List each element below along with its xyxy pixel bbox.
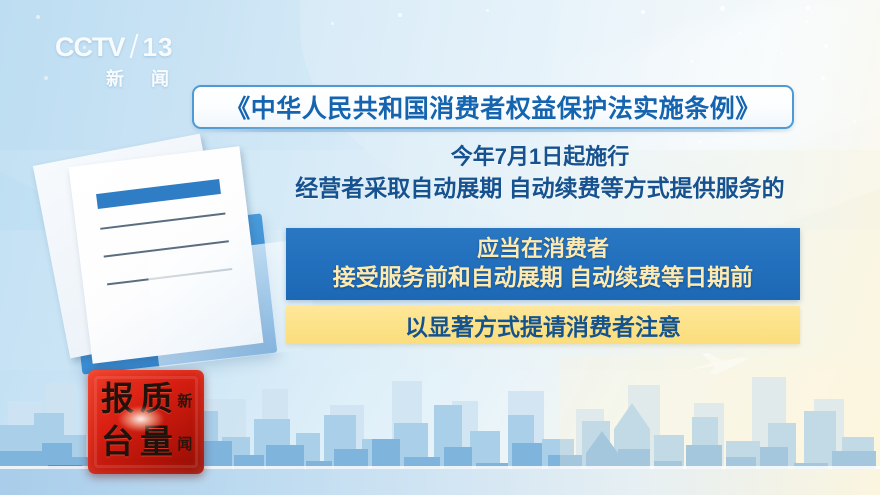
paper-rule-line bbox=[100, 212, 225, 229]
banner-blue-line-1: 应当在消费者 bbox=[477, 236, 609, 262]
particle-dot bbox=[486, 9, 489, 12]
body-line-effective-date: 今年7月1日起施行 bbox=[260, 143, 820, 171]
cctv-channel-logo: CCTV 13 新 闻 bbox=[55, 32, 225, 92]
particle-dot bbox=[853, 120, 856, 123]
cctv-wordmark: CCTV bbox=[55, 32, 125, 63]
particle-dot bbox=[641, 10, 645, 14]
particle-dot bbox=[398, 13, 402, 17]
particle-dot bbox=[806, 20, 809, 23]
headline-plate-shadow bbox=[200, 127, 788, 132]
paper-header-bar bbox=[96, 179, 221, 209]
emphasis-banner-blue: 应当在消费者 接受服务前和自动展期 自动续费等日期前 bbox=[286, 228, 800, 300]
particle-dot bbox=[36, 15, 40, 19]
particle-dot bbox=[720, 6, 725, 11]
particle-dot bbox=[331, 22, 334, 25]
seal-side-char-bottom: 闻 bbox=[175, 422, 195, 465]
cctv-channel-number: 13 bbox=[143, 32, 174, 63]
body-line-operator-clause: 经营者采取自动展期 自动续费等方式提供服务的 bbox=[260, 174, 820, 203]
emphasis-banner-yellow: 以显著方式提请消费者注意 bbox=[286, 306, 800, 344]
page-title: 《中华人民共和国消费者权益保护法实施条例》 bbox=[225, 89, 761, 125]
particle-dot bbox=[780, 52, 783, 55]
program-seal-logo: 报 质 新 台 量 闻 bbox=[88, 370, 204, 474]
banner-yellow-line-1: 以显著方式提请消费者注意 bbox=[405, 308, 681, 342]
slash-divider-icon bbox=[129, 34, 138, 58]
particle-dot bbox=[738, 32, 741, 35]
seal-side-char-top: 新 bbox=[175, 379, 195, 422]
body-text-group: 今年7月1日起施行 经营者采取自动展期 自动续费等方式提供服务的 bbox=[260, 143, 820, 204]
particle-dot bbox=[821, 76, 825, 80]
headline-plate: 《中华人民共和国消费者权益保护法实施条例》 bbox=[192, 85, 794, 129]
banner-blue-line-2: 接受服务前和自动展期 自动续费等日期前 bbox=[333, 264, 753, 291]
particle-dot bbox=[44, 76, 48, 80]
broadcast-screen: CCTV 13 新 闻 《中华人民共和国消费者权益保护法实施条例》 今年7月1日… bbox=[0, 0, 880, 495]
seal-light-glare bbox=[118, 406, 164, 432]
particle-dot bbox=[691, 60, 694, 63]
particle-dot bbox=[824, 44, 828, 48]
particle-dot bbox=[806, 6, 810, 10]
